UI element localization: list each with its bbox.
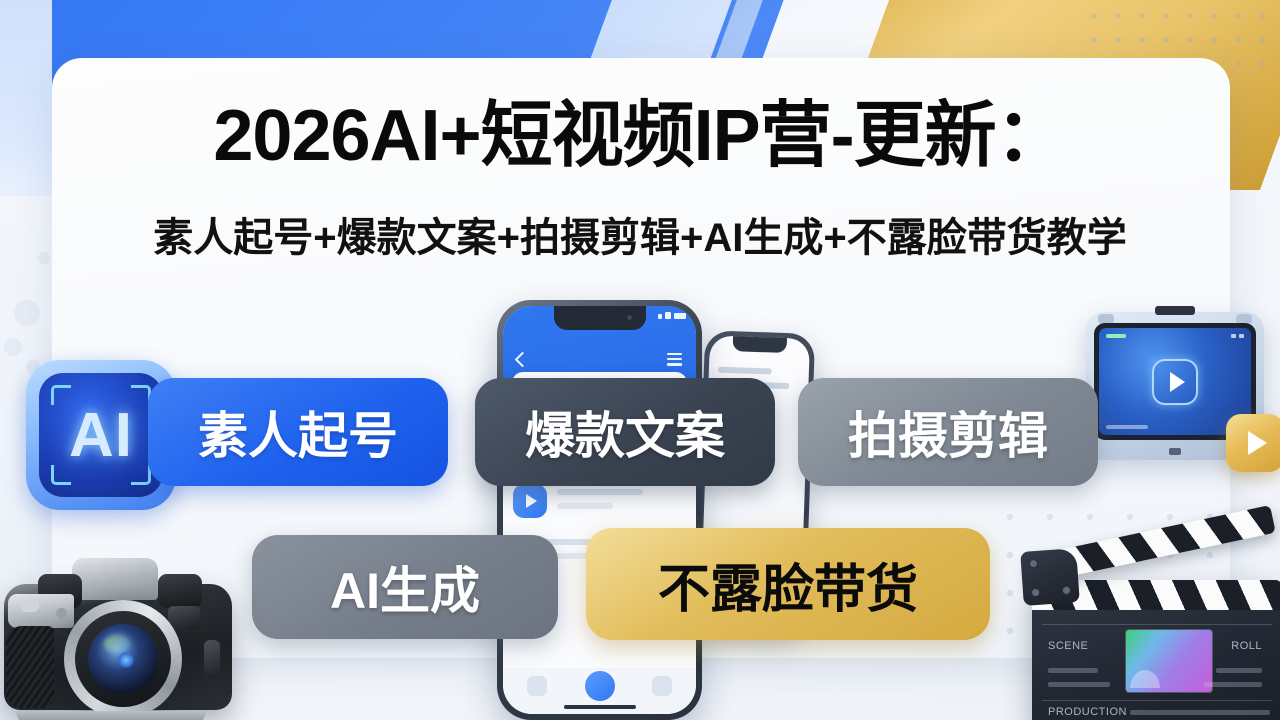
divider <box>1042 624 1272 625</box>
camera-base <box>16 711 206 720</box>
screw-icon <box>1031 588 1041 598</box>
page-title: 2026AI+短视频IP营-更新： <box>0 100 1280 172</box>
page-subtitle: 素人起号+爆款文案+拍摄剪辑+AI生成+不露脸带货教学 <box>0 218 1280 258</box>
monitor-status-icons <box>1231 334 1244 338</box>
clapper-color-chart <box>1126 630 1212 692</box>
hamburger-menu-icon[interactable] <box>667 353 682 369</box>
signal-icon <box>658 314 662 319</box>
screw-icon <box>1062 586 1072 596</box>
front-camera-icon <box>627 315 632 320</box>
decorative-bubble <box>4 338 22 356</box>
home-indicator <box>564 705 636 709</box>
placeholder-bar <box>1216 668 1262 673</box>
battery-icon <box>674 313 686 319</box>
monitor-control-button[interactable] <box>1169 448 1181 455</box>
ai-badge-inner: AI <box>39 373 163 497</box>
timecode-placeholder <box>1106 425 1148 429</box>
clapper-fields: SCENE TAKE ROLL PRODUCTION <box>1042 620 1272 720</box>
camera-prism <box>72 558 158 600</box>
promo-poster: 2026AI+短视频IP营-更新： 素人起号+爆款文案+拍摄剪辑+AI生成+不露… <box>0 0 1280 720</box>
screw-icon <box>1029 559 1039 569</box>
phone-screen <box>503 306 696 714</box>
placeholder-bar <box>1130 710 1270 715</box>
camera-lens <box>64 600 182 718</box>
clapper-field-roll: ROLL <box>1231 640 1262 652</box>
phone-notch <box>554 306 646 330</box>
placeholder-line <box>557 503 613 509</box>
pill-suren-qihao[interactable]: 素人起号 <box>148 378 448 486</box>
placeholder-bar <box>1048 668 1098 673</box>
nav-profile-icon[interactable] <box>652 676 672 696</box>
pill-paishe-jianji[interactable]: 拍摄剪辑 <box>798 378 1098 486</box>
decorative-bubble <box>14 300 40 326</box>
pill-baokuan-wenan[interactable]: 爆款文案 <box>475 378 775 486</box>
clapper-hinge <box>1020 548 1080 606</box>
pill-bulu-lian-daihuo[interactable]: 不露脸带货 <box>586 528 990 640</box>
secondary-phone-notch <box>733 336 787 353</box>
placeholder-bar <box>1048 682 1110 687</box>
pill-ai-shengcheng[interactable]: AI生成 <box>252 535 558 639</box>
hot-shoe-icon <box>1155 306 1195 315</box>
play-icon[interactable] <box>1152 359 1198 405</box>
nav-record-button[interactable] <box>585 671 615 701</box>
gold-play-button[interactable] <box>1226 414 1280 472</box>
clapper-field-scene: SCENE <box>1048 640 1088 652</box>
wifi-icon <box>665 312 671 319</box>
divider <box>1042 700 1272 701</box>
dslr-camera-illustration <box>0 548 244 720</box>
play-icon[interactable] <box>513 484 547 518</box>
camera-control-dial <box>158 574 202 608</box>
phone-status-icons <box>658 312 686 319</box>
record-indicator <box>1106 334 1126 338</box>
nav-home-icon[interactable] <box>527 676 547 696</box>
phone-mockup <box>497 300 702 720</box>
clapper-field-production: PRODUCTION <box>1048 706 1127 718</box>
camera-grip <box>6 626 54 708</box>
ai-badge-label: AI <box>39 373 163 497</box>
clapperboard-illustration: SCENE TAKE ROLL PRODUCTION <box>1014 502 1280 720</box>
list-item[interactable] <box>513 482 686 522</box>
shutter-button-icon <box>20 600 39 612</box>
camera-side-button <box>204 640 220 674</box>
camera-indicator-dot <box>56 608 67 619</box>
placeholder-line <box>557 489 643 495</box>
placeholder-bar <box>1204 682 1262 687</box>
